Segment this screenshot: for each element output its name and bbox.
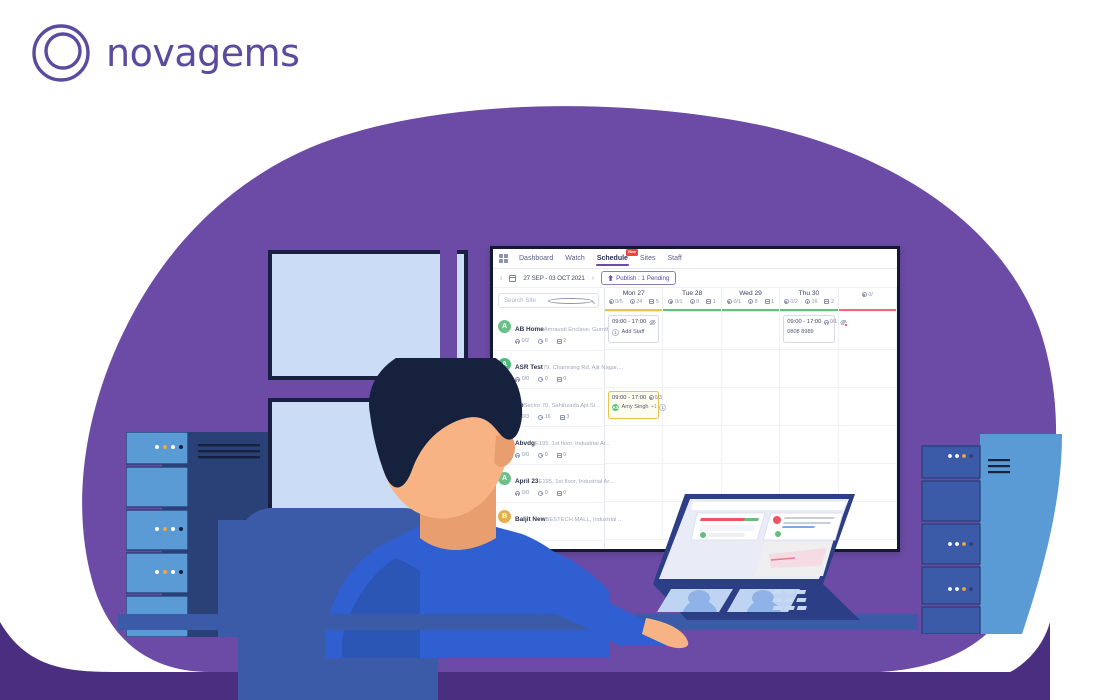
calendar-cell[interactable] [663,312,721,349]
day-header[interactable]: Tue 280/181 [663,288,721,311]
day-staff-count-icon [862,292,867,297]
calendar-icon [509,275,516,282]
eye-off-icon[interactable] [649,319,656,326]
date-toolbar: ‹ 27 SEP - 03 OCT 2021 › Publish : 1 Pen… [493,269,897,288]
date-range-label: 27 SEP - 03 OCT 2021 [523,275,584,282]
site-shifts-count-icon [557,339,562,344]
calendar-cell[interactable] [605,426,663,463]
day-staff-count: 0/1 [727,299,741,305]
brand-name: novagems [106,31,299,75]
tab-watch[interactable]: Watch [564,252,586,266]
day-status-bar [605,309,662,311]
calendar-row [605,426,897,464]
calendar-cell[interactable]: 09:00 - 17:001Add Staff [605,312,663,349]
day-hours-count: 8 [748,299,758,305]
site-stats: 0/282 [515,338,600,344]
day-staff-count: 0/ [862,292,873,298]
shift-card[interactable]: 09:00 - 17:000/3ASAmy Singh+11 [608,391,659,419]
day-status-bar [780,309,837,311]
shift-staff-count: 0/1 [824,319,837,325]
publish-pin-icon [608,275,613,281]
day-staff-count-icon [668,299,673,304]
ring-logo-icon [30,22,92,84]
site-hours-count-icon [538,339,543,344]
day-header[interactable]: Wed 290/181 [722,288,780,311]
calendar-cell[interactable] [839,312,897,349]
search-site-input[interactable]: Search Site [498,293,599,308]
site-name: AB Home [515,326,544,333]
shift-footer: 0808 8989 [787,329,830,335]
calendar-cell[interactable] [605,350,663,387]
chevron-right-icon[interactable]: › [592,275,594,282]
day-hours-count-icon [690,299,695,304]
chevron-left-icon[interactable]: ‹ [500,275,502,282]
calendar-cell[interactable] [663,388,721,425]
app-navbar: Dashboard Watch Schedule New Sites Staff [493,249,897,269]
day-name: Thu 30 [799,290,820,297]
search-placeholder: Search Site [504,297,548,304]
shift-time: 09:00 - 17:00 [787,319,821,325]
shift-time: 09:00 - 17:00 [612,395,646,401]
calendar-day-headers: Mon 270/5245Tue 280/181Wed 290/181Thu 30… [605,288,897,312]
search-icon [548,298,594,304]
day-shifts-count: 1 [765,299,775,305]
day-name: Mon 27 [623,290,645,297]
calendar-cell[interactable] [722,312,780,349]
calendar-row: 09:00 - 17:001Add Staff09:00 - 17:000/10… [605,312,897,350]
day-shifts-count-icon [706,299,711,304]
staff-avatar-chip: 1 [612,329,619,336]
tab-staff[interactable]: Staff [667,252,683,266]
calendar-cell[interactable] [722,350,780,387]
shift-label[interactable]: Amy Singh [622,404,649,410]
overflow-chip: 1 [659,404,666,411]
day-status-bar [722,309,779,311]
shift-label[interactable]: 0808 8989 [787,329,813,335]
calendar-cell[interactable] [663,350,721,387]
calendar-cell[interactable] [780,388,838,425]
tab-dashboard[interactable]: Dashboard [518,252,554,266]
avatar: A [498,320,511,333]
illustration-canvas: Dashboard Watch Schedule New Sites Staff… [0,0,1100,700]
day-stats: 0/2162 [784,299,834,305]
calendar-row: 09:00 - 17:000/3ASAmy Singh+11 [605,388,897,426]
day-hours-count-icon [630,299,635,304]
search-wrapper: Search Site [493,288,604,313]
shift-header: 09:00 - 17:000/1 [787,319,830,326]
person-icon [649,395,654,400]
shift-label[interactable]: Add Staff [622,329,645,335]
shift-extra-count: +1 [651,404,657,410]
shift-time: 09:00 - 17:00 [612,319,646,325]
day-header[interactable]: 0/ [839,288,897,311]
day-name: Wed 29 [739,290,762,297]
calendar-cell[interactable] [722,426,780,463]
shift-footer: ASAmy Singh+11 [612,404,655,411]
brand-logo: novagems [30,22,299,84]
day-shifts-count: 5 [649,299,659,305]
shift-staff-count: 0/3 [649,395,662,401]
tab-sites[interactable]: Sites [639,252,657,266]
day-shifts-count-icon [765,299,770,304]
calendar-cell[interactable] [839,388,897,425]
day-stats: 0/5245 [609,299,659,305]
day-hours-count-icon [805,299,810,304]
day-name: Tue 28 [682,290,702,297]
calendar-cell[interactable] [839,350,897,387]
calendar-cell[interactable]: 09:00 - 17:000/10808 8989 [780,312,838,349]
new-badge: New [626,249,638,256]
grid-apps-icon[interactable] [499,254,508,263]
day-hours-count-icon [748,299,753,304]
publish-button[interactable]: Publish : 1 Pending [601,271,676,285]
day-staff-count: 0/2 [784,299,798,305]
shift-header: 09:00 - 17:00 [612,319,655,326]
tab-schedule-label: Schedule [597,255,628,262]
calendar-row [605,350,897,388]
day-hours-count: 24 [630,299,643,305]
day-stats: 0/ [862,292,873,298]
shift-footer: 1Add Staff [612,329,655,336]
day-status-bar [663,309,720,311]
server-rack-right [912,434,1062,634]
day-staff-count-icon [727,299,732,304]
day-hours-count: 8 [690,299,700,305]
alert-badge [844,323,848,327]
tab-schedule[interactable]: Schedule New [596,252,629,266]
calendar-cell[interactable] [663,426,721,463]
calendar-cell[interactable] [780,350,838,387]
day-staff-count-icon [609,299,614,304]
shift-card[interactable]: 09:00 - 17:001Add Staff [608,315,659,343]
calendar-cell[interactable] [780,426,838,463]
day-hours-count: 16 [805,299,818,305]
site-shifts-count: 2 [557,338,567,344]
day-shifts-count: 1 [706,299,716,305]
site-row[interactable]: AAB HomeAmravati Enclave, Gurnthala...0/… [493,313,604,351]
site-staff-count: 0/2 [515,338,529,344]
publish-label: Publish : 1 Pending [616,275,669,282]
day-staff-count: 0/1 [668,299,682,305]
shift-header: 09:00 - 17:000/3 [612,395,655,401]
day-staff-count: 0/5 [609,299,623,305]
eye-off-icon[interactable] [840,319,847,326]
day-stats: 0/181 [668,299,715,305]
person-icon [824,320,829,325]
site-staff-count-icon [515,339,520,344]
shift-card[interactable]: 09:00 - 17:000/10808 8989 [783,315,834,343]
day-shifts-count: 2 [824,299,834,305]
day-stats: 0/181 [727,299,774,305]
day-shifts-count-icon [824,299,829,304]
calendar-cell[interactable]: 09:00 - 17:000/3ASAmy Singh+11 [605,388,663,425]
staff-avatar-chip: AS [612,404,619,411]
site-info: AB HomeAmravati Enclave, Gurnthala...0/2… [515,318,600,350]
day-header[interactable]: Mon 270/5245 [605,288,663,311]
day-header[interactable]: Thu 300/2162 [780,288,838,311]
calendar-cell[interactable] [722,388,780,425]
calendar-cell[interactable] [839,426,897,463]
day-shifts-count-icon [649,299,654,304]
site-hours-count: 8 [538,338,548,344]
day-staff-count-icon [784,299,789,304]
day-status-bar [839,309,896,311]
person-hand [470,560,710,650]
